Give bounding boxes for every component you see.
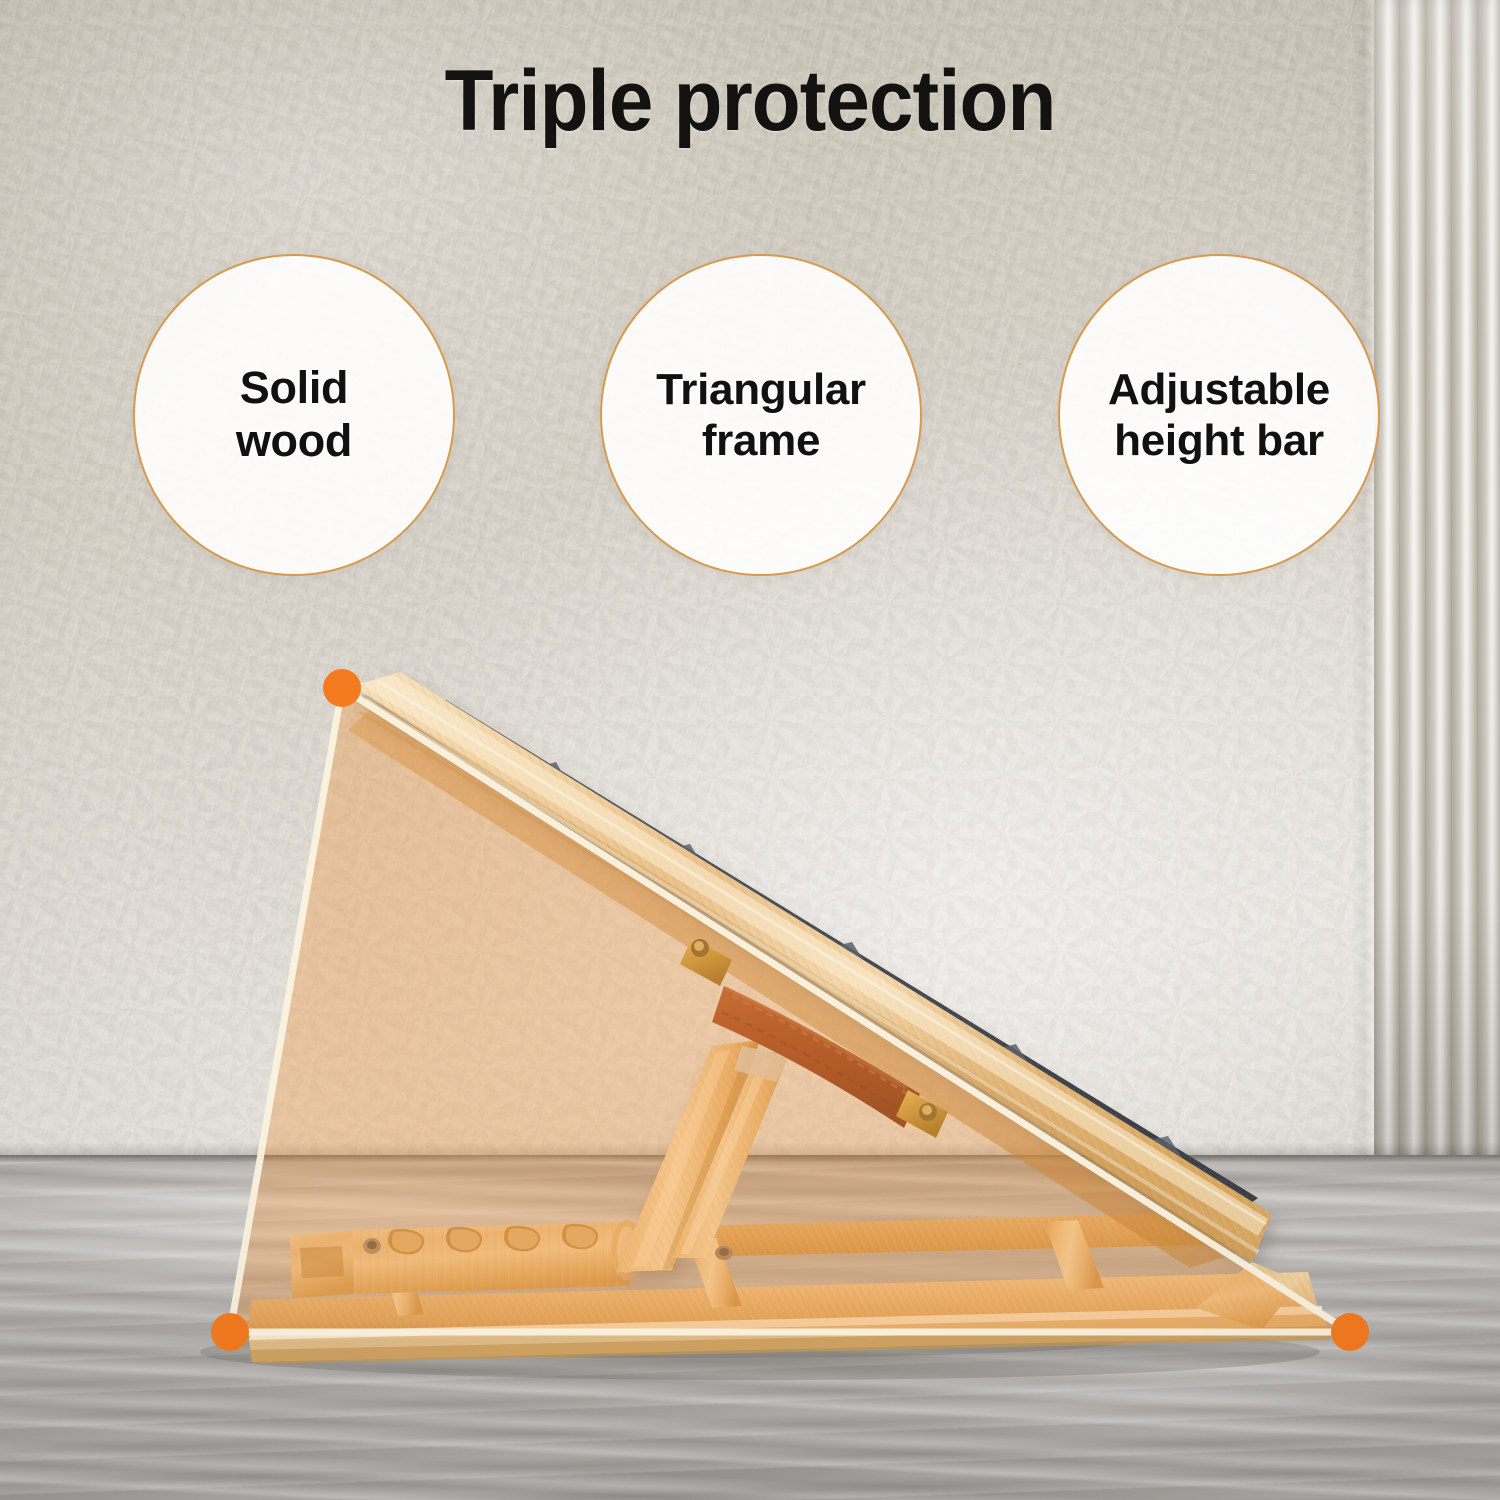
side-rail xyxy=(352,672,1272,1262)
feature-badge-solid-wood[interactable]: Solid wood xyxy=(133,254,455,576)
feature-badge-label: Solid wood xyxy=(218,362,370,467)
notched-height-adjustment-rail[interactable] xyxy=(290,1222,630,1298)
feature-badge-triangular-frame[interactable]: Triangular frame xyxy=(600,254,922,576)
page-title: Triple protection xyxy=(53,52,1448,151)
feature-badge-adjustable-height-bar[interactable]: Adjustable height bar xyxy=(1058,254,1380,576)
product-infographic: Triple protection Solid wood Triangular … xyxy=(0,0,1500,1500)
product-photo xyxy=(0,0,1500,1500)
feature-badge-label: Triangular frame xyxy=(638,364,884,467)
feature-badge-label: Adjustable height bar xyxy=(1090,364,1348,467)
